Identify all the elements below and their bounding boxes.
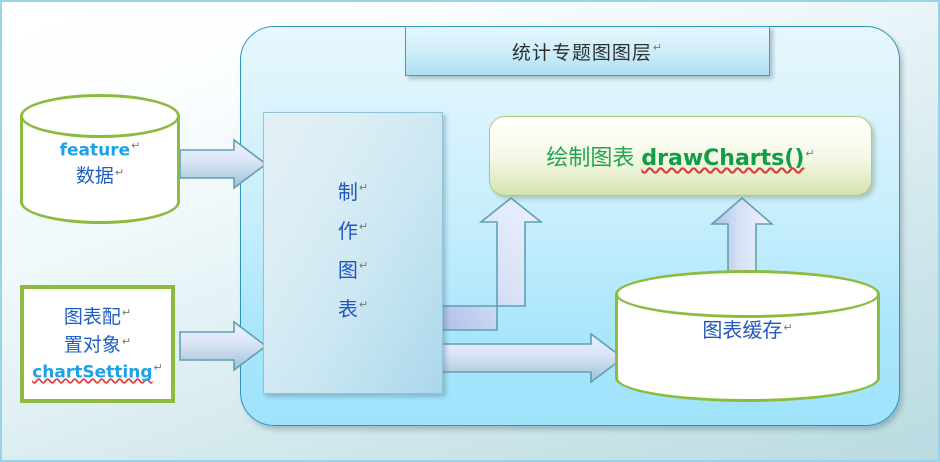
- feature-data-cylinder: feature↵ 数据↵: [20, 94, 180, 224]
- chart-setting-box: 图表配↵ 置对象↵ chartSetting↵: [20, 285, 175, 403]
- pilcrow-mark: ↵: [115, 166, 124, 179]
- process-char-2: 作↵: [264, 212, 442, 251]
- draw-charts-label: 绘制图表 drawCharts()↵: [546, 140, 814, 172]
- make-chart-process-box: 制↵ 作↵ 图↵ 表↵: [263, 112, 443, 394]
- layer-title-box: 统计专题图图层↵: [405, 26, 770, 76]
- draw-charts-box: 绘制图表 drawCharts()↵: [489, 116, 872, 196]
- chart-cache-label: 图表缓存↵: [615, 316, 880, 345]
- pilcrow-mark: ↵: [359, 259, 368, 272]
- pilcrow-mark: ↵: [805, 147, 814, 160]
- cylinder-top-ellipse: [20, 94, 180, 138]
- pilcrow-mark: ↵: [783, 321, 792, 334]
- layer-title-label: 统计专题图图层↵: [512, 38, 663, 65]
- pilcrow-mark: ↵: [122, 335, 131, 348]
- arrow-feature-to-process: [180, 138, 270, 190]
- pilcrow-mark: ↵: [131, 139, 140, 152]
- pilcrow-mark: ↵: [653, 41, 663, 54]
- arrow-process-to-cache: [441, 332, 627, 384]
- make-chart-vertical-label: 制↵ 作↵ 图↵ 表↵: [264, 173, 442, 329]
- process-char-1: 制↵: [264, 173, 442, 212]
- process-char-3: 图↵: [264, 251, 442, 290]
- process-char-4: 表↵: [264, 290, 442, 329]
- pilcrow-mark: ↵: [359, 298, 368, 311]
- chart-setting-line-1: 图表配↵: [64, 303, 131, 332]
- feature-cylinder-label: feature↵ 数据↵: [20, 138, 180, 191]
- cylinder-top-ellipse: [615, 270, 880, 318]
- pilcrow-mark: ↵: [359, 181, 368, 194]
- chart-setting-line-3: chartSetting↵: [32, 360, 163, 386]
- chart-setting-line-2: 置对象↵: [64, 331, 131, 360]
- diagram-canvas: 统计专题图图层↵: [0, 0, 940, 462]
- pilcrow-mark: ↵: [154, 361, 163, 374]
- chart-cache-cylinder: 图表缓存↵: [615, 270, 880, 402]
- arrow-chartsetting-to-process: [180, 320, 270, 372]
- arrow-process-to-drawcharts: [441, 198, 581, 330]
- pilcrow-mark: ↵: [359, 220, 368, 233]
- pilcrow-mark: ↵: [122, 306, 131, 319]
